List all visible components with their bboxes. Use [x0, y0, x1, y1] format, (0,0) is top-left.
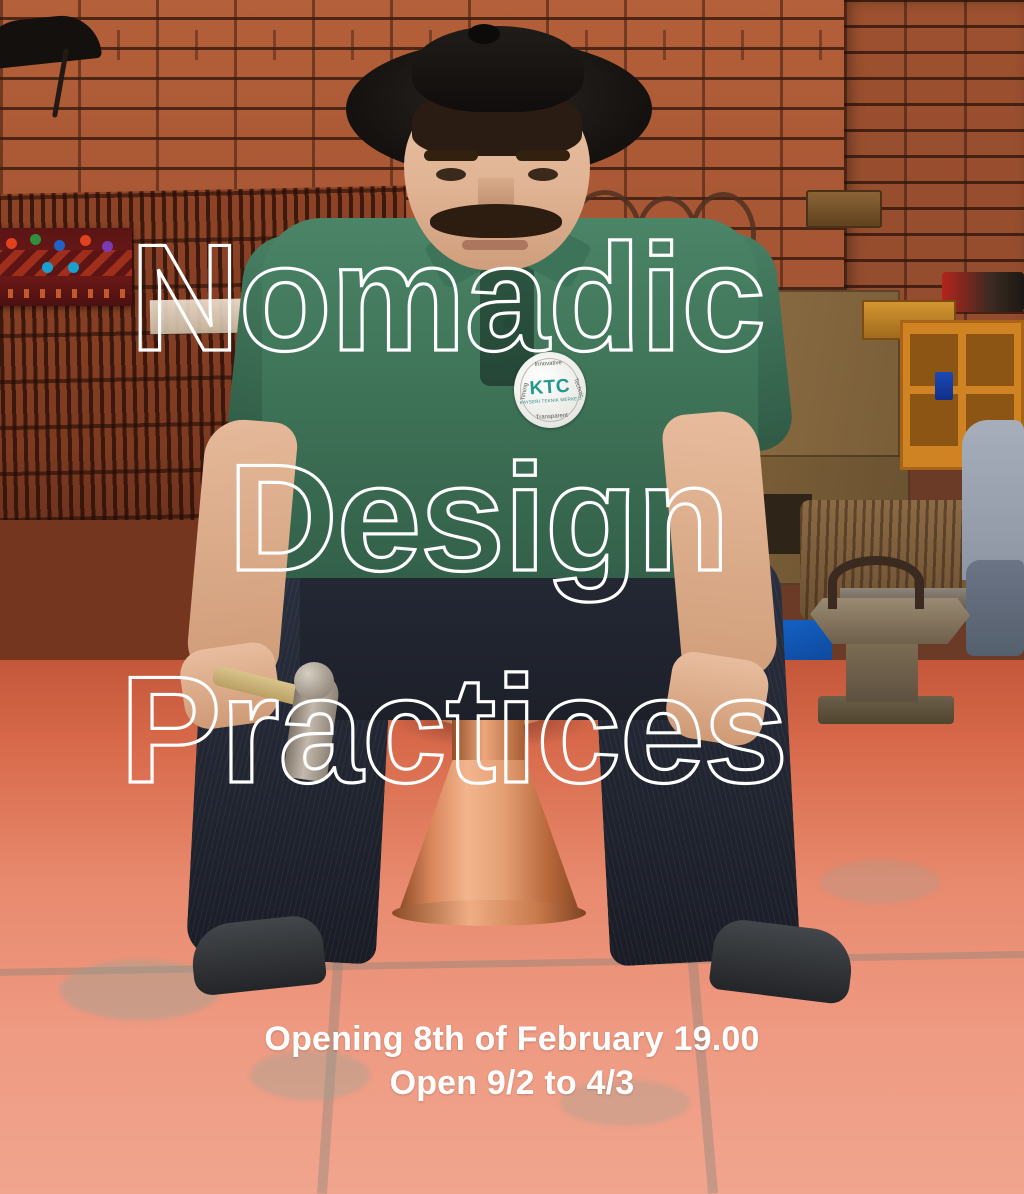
opening-date-line: Opening 8th of February 19.00: [0, 1018, 1024, 1062]
hat-crown: [412, 26, 584, 112]
eye-right: [528, 168, 558, 181]
embroidered-kilim: [0, 228, 132, 306]
background-photograph: Innovative KTC KAYSERI TEKNIK MERKEZI Tr…: [0, 0, 1024, 1194]
copper-vessel-rim: [392, 900, 586, 926]
polo-button: [503, 318, 513, 328]
event-details: Opening 8th of February 19.00 Open 9/2 t…: [0, 1018, 1024, 1105]
kilim-zigzag: [0, 250, 132, 276]
mustache: [430, 204, 562, 238]
kilim-dot-row: [0, 289, 132, 298]
polo-button: [503, 362, 513, 372]
kilim-motif: [102, 241, 113, 252]
hammer-ball-peen: [294, 662, 334, 700]
leather-strap: [828, 556, 924, 609]
shelf-cell: [966, 334, 1014, 386]
kilim-motif: [80, 235, 91, 246]
kilim-motif: [68, 262, 79, 273]
blue-can: [935, 372, 953, 400]
eyebrow-right: [516, 150, 570, 161]
shelf-cell: [910, 394, 958, 446]
second-person-legs: [966, 560, 1024, 656]
exhibition-poster: Innovative KTC KAYSERI TEKNIK MERKEZI Tr…: [0, 0, 1024, 1194]
wall-tool-rack: [806, 190, 882, 228]
kilim-motif: [30, 234, 41, 245]
eyebrow-left: [424, 150, 478, 161]
second-person-torso: [962, 420, 1024, 580]
open-period-line: Open 9/2 to 4/3: [0, 1062, 1024, 1106]
anvil-waist: [846, 640, 918, 702]
kilim-motif: [42, 262, 53, 273]
hat-knob: [468, 24, 500, 44]
mouth: [462, 240, 528, 250]
floor-patch: [820, 860, 940, 904]
kilim-motif: [54, 240, 65, 251]
badge-word-bottom: Transparent: [536, 413, 568, 421]
kilim-motif: [6, 238, 17, 249]
eye-left: [436, 168, 466, 181]
